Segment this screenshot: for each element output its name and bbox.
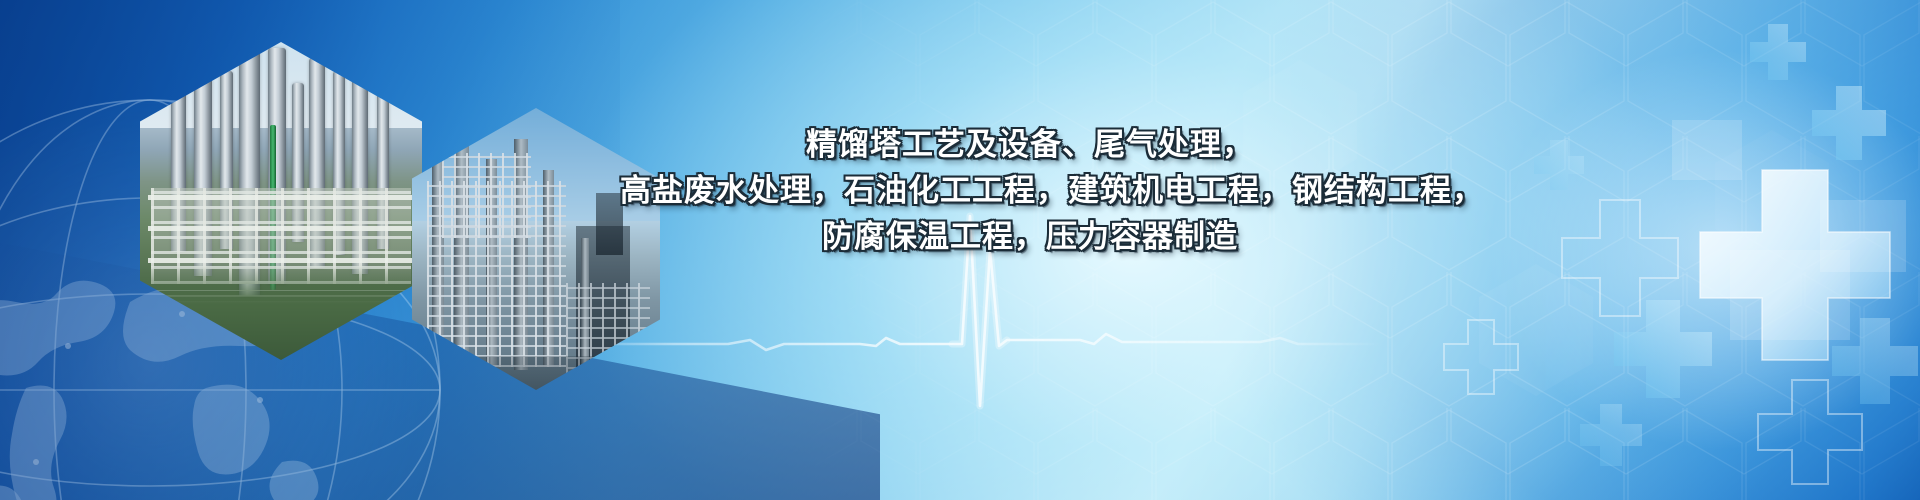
hex-photo-refinery-construction <box>412 108 660 390</box>
headline-line-1: 精馏塔工艺及设备、尾气处理， <box>620 122 1440 168</box>
glowing-cross-cluster <box>1300 0 1920 500</box>
hex-photo-distillation-plant <box>140 42 422 360</box>
headline-line-2: 高盐废水处理，石油化工工程，建筑机电工程，钢结构工程， <box>620 168 1440 214</box>
headline-line-3: 防腐保温工程，压力容器制造 <box>620 214 1440 260</box>
ecg-pulse-line <box>560 130 1380 460</box>
promo-banner: 精馏塔工艺及设备、尾气处理， 高盐废水处理，石油化工工程，建筑机电工程，钢结构工… <box>0 0 1920 500</box>
banner-headline: 精馏塔工艺及设备、尾气处理， 高盐废水处理，石油化工工程，建筑机电工程，钢结构工… <box>620 122 1440 260</box>
hexagon-network-pattern <box>800 0 1920 500</box>
